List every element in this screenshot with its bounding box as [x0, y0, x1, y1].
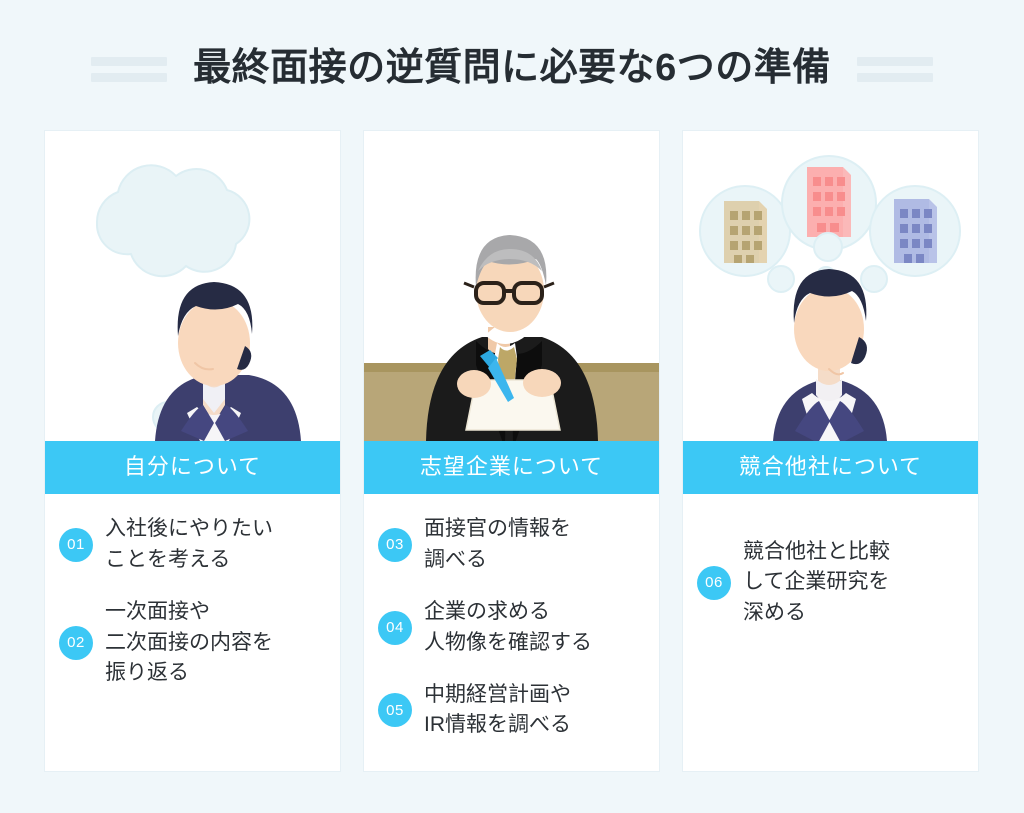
building-icon-pink: [807, 167, 851, 237]
item-text: 中期経営計画や IR情報を調べる: [424, 680, 571, 741]
list-item: 06 競合他社と比較 して企業研究を 深める: [697, 537, 964, 628]
cards-container: 自分について 01 入社後にやりたい ことを考える 02 一次面接や 二次面接の…: [45, 131, 979, 771]
deco-bar: [91, 57, 167, 66]
item-text: 一次面接や 二次面接の内容を 振り返る: [105, 597, 273, 688]
card-target-company: 志望企業について 03 面接官の情報を 調べる 04 企業の求める 人物像を確認…: [364, 131, 659, 771]
card-banner-competitors: 競合他社について: [683, 441, 978, 494]
title-row: 最終面接の逆質問に必要な6つの準備: [0, 38, 1024, 100]
building-icon-blue: [894, 199, 937, 263]
item-number-badge: 01: [59, 528, 93, 562]
decoration-left: [91, 57, 167, 82]
decoration-right: [857, 57, 933, 82]
card-competitors: 競合他社について 06 競合他社と比較 して企業研究を 深める: [683, 131, 978, 771]
item-text: 競合他社と比較 して企業研究を 深める: [743, 537, 890, 628]
list-item: 05 中期経営計画や IR情報を調べる: [378, 680, 645, 741]
deco-bar: [857, 73, 933, 82]
building-icon-beige: [724, 201, 767, 263]
list-item: 03 面接官の情報を 調べる: [378, 514, 645, 575]
item-number-badge: 04: [378, 611, 412, 645]
list-item: 02 一次面接や 二次面接の内容を 振り返る: [59, 597, 326, 688]
illustration-competitor-buildings: [683, 131, 978, 441]
list-item: 04 企業の求める 人物像を確認する: [378, 597, 645, 658]
illustration-interviewer: [364, 131, 659, 441]
item-number-badge: 03: [378, 528, 412, 562]
deco-bar: [857, 57, 933, 66]
page-title: 最終面接の逆質問に必要な6つの準備: [193, 48, 831, 90]
card-banner-target-company: 志望企業について: [364, 441, 659, 494]
item-text: 企業の求める 人物像を確認する: [424, 597, 592, 658]
card-list-competitors: 06 競合他社と比較 して企業研究を 深める: [683, 494, 978, 771]
item-text: 面接官の情報を 調べる: [424, 514, 571, 575]
card-self: 自分について 01 入社後にやりたい ことを考える 02 一次面接や 二次面接の…: [45, 131, 340, 771]
list-item: 01 入社後にやりたい ことを考える: [59, 514, 326, 575]
card-list-self: 01 入社後にやりたい ことを考える 02 一次面接や 二次面接の内容を 振り返…: [45, 494, 340, 771]
item-number-badge: 05: [378, 693, 412, 727]
deco-bar: [91, 73, 167, 82]
card-list-target-company: 03 面接官の情報を 調べる 04 企業の求める 人物像を確認する 05 中期経…: [364, 494, 659, 771]
card-banner-self: 自分について: [45, 441, 340, 494]
illustration-thinking-person: [45, 131, 340, 441]
item-number-badge: 06: [697, 566, 731, 600]
item-number-badge: 02: [59, 626, 93, 660]
item-text: 入社後にやりたい ことを考える: [105, 514, 273, 575]
